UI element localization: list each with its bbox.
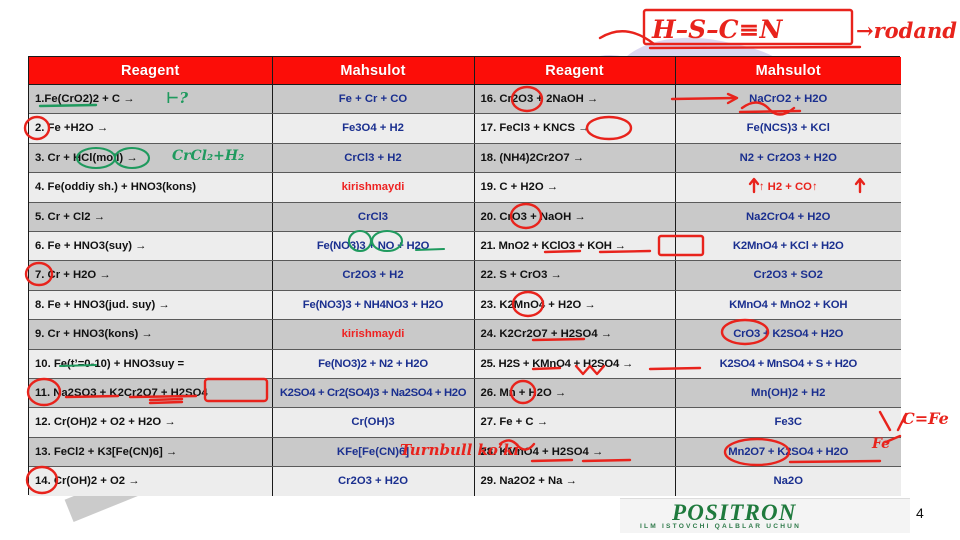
cell-product-left: kirishmaydi [272, 173, 474, 202]
cell-reagent-left: 14. Cr(OH)2 + O2 → [29, 467, 272, 496]
table-row: 6. Fe + HNO3(suy) → Fe(NO3)3 + NO + H2O … [29, 231, 901, 260]
cell-product-right: CrO3 + K2SO4 + H2O [675, 320, 901, 349]
column-header-reagent-left: Reagent [29, 57, 272, 85]
ink-text-rodanid: →rodand [856, 18, 957, 43]
cell-product-right: NaCrO2 + H2O [675, 85, 901, 114]
cell-product-right: Mn2O7 + K2SO4 + H2O [675, 437, 901, 466]
table-row: 14. Cr(OH)2 + O2 → Cr2O3 + H2O 29. Na2O2… [29, 467, 901, 496]
cell-reagent-right: 22. S + CrO3 → [474, 261, 675, 290]
cell-reagent-right: 21. MnO2 + KClO3 + KOH → [474, 231, 675, 260]
cell-product-left: CrCl3 [272, 202, 474, 231]
cell-product-right: Fe3C [675, 408, 901, 437]
cell-product-left: KFe[Fe(CN)6] [272, 437, 474, 466]
table-row: 7. Cr + H2O → Cr2O3 + H2 22. S + CrO3 → … [29, 261, 901, 290]
cell-reagent-left: 13. FeCl2 + K3[Fe(CN)6] → [29, 437, 272, 466]
ink-underline-top [650, 47, 860, 48]
cell-reagent-right: 29. Na2O2 + Na → [474, 467, 675, 496]
cell-product-right: Na2O [675, 467, 901, 496]
page-number: 4 [916, 505, 924, 521]
table-row: 5. Cr + Cl2 → CrCl3 20. CrO3 + NaOH → Na… [29, 202, 901, 231]
cell-product-right: N2 + Cr2O3 + H2O [675, 143, 901, 172]
cell-product-right: Mn(OH)2 + H2 [675, 378, 901, 407]
cell-product-left: Fe(NO3)2 + N2 + H2O [272, 349, 474, 378]
cell-reagent-right: 25. H2S + KMnO4 + H2SO4 → [474, 349, 675, 378]
cell-reagent-left: 9. Cr + HNO3(kons) → [29, 320, 272, 349]
cell-reagent-left: 8. Fe + HNO3(jud. suy) → [29, 290, 272, 319]
cell-product-right: Na2CrO4 + H2O [675, 202, 901, 231]
table-row: 8. Fe + HNO3(jud. suy) → Fe(NO3)3 + NH4N… [29, 290, 901, 319]
ink-curve-top-left [600, 31, 654, 44]
ink-text-thiocyanate: H–S–C≡N [651, 15, 784, 44]
cell-reagent-right: 27. Fe + C → [474, 408, 675, 437]
table-row: 4. Fe(oddiy sh.) + HNO3(kons) kirishmayd… [29, 173, 901, 202]
cell-reagent-left: 11. Na2SO3 + K2Cr2O7 + H2SO4 [29, 378, 272, 407]
reactions-table: Reagent Mahsulot Reagent Mahsulot 1.Fe(C… [29, 57, 901, 496]
cell-reagent-left: 1.Fe(CrO2)2 + C → [29, 85, 272, 114]
table-header-row: Reagent Mahsulot Reagent Mahsulot [29, 57, 901, 85]
cell-product-left: Fe + Cr + CO [272, 85, 474, 114]
cell-product-left: Fe3O4 + H2 [272, 114, 474, 143]
cell-reagent-right: 20. CrO3 + NaOH → [474, 202, 675, 231]
table-row: 13. FeCl2 + K3[Fe(CN)6] → KFe[Fe(CN)6] 2… [29, 437, 901, 466]
table-row: 10. Fe(t’=0-10) + HNO3suy = Fe(NO3)2 + N… [29, 349, 901, 378]
cell-reagent-left: 6. Fe + HNO3(suy) → [29, 231, 272, 260]
ink-text-fe3c-c: C=Fe [902, 409, 949, 428]
table-row: 3. Cr + HCl(mo’l) → CrCl3 + H2 18. (NH4)… [29, 143, 901, 172]
cell-reagent-left: 10. Fe(t’=0-10) + HNO3suy = [29, 349, 272, 378]
cell-product-left: kirishmaydi [272, 320, 474, 349]
cell-reagent-left: 4. Fe(oddiy sh.) + HNO3(kons) [29, 173, 272, 202]
table-row: 11. Na2SO3 + K2Cr2O7 + H2SO4 K2SO4 + Cr2… [29, 378, 901, 407]
cell-product-right: K2SO4 + MnSO4 + S + H2O [675, 349, 901, 378]
cell-product-right: Fe(NCS)3 + KCl [675, 114, 901, 143]
column-header-reagent-right: Reagent [474, 57, 675, 85]
cell-reagent-left: 5. Cr + Cl2 → [29, 202, 272, 231]
cell-product-right: ↑ H2 + CO↑ [675, 173, 901, 202]
cell-product-left: Fe(NO3)3 + NH4NO3 + H2O [272, 290, 474, 319]
logo-tagline: ILM ISTOVCHI QALBLAR UCHUN [640, 523, 801, 530]
cell-product-left: Cr2O3 + H2 [272, 261, 474, 290]
cell-reagent-right: 19. C + H2O → [474, 173, 675, 202]
cell-reagent-left: 12. Cr(OH)2 + O2 + H2O → [29, 408, 272, 437]
cell-reagent-left: 3. Cr + HCl(mo’l) → [29, 143, 272, 172]
cell-product-right: K2MnO4 + KCl + H2O [675, 231, 901, 260]
cell-reagent-right: 24. K2Cr2O7 + H2SO4 → [474, 320, 675, 349]
cell-reagent-right: 16. Cr2O3 + 2NaOH → [474, 85, 675, 114]
column-header-mahsulot-right: Mahsulot [675, 57, 901, 85]
cell-product-left: Cr2O3 + H2O [272, 467, 474, 496]
table-row: 2. Fe +H2O → Fe3O4 + H2 17. FeCl3 + KNCS… [29, 114, 901, 143]
table-row: 12. Cr(OH)2 + O2 + H2O → Cr(OH)3 27. Fe … [29, 408, 901, 437]
cell-reagent-right: 26. Mn + H2O → [474, 378, 675, 407]
positron-logo: POSITRON ILM ISTOVCHI QALBLAR UCHUN [620, 498, 910, 533]
cell-reagent-right: 18. (NH4)2Cr2O7 → [474, 143, 675, 172]
cell-product-right: Cr2O3 + SO2 [675, 261, 901, 290]
cell-product-left: CrCl3 + H2 [272, 143, 474, 172]
reactions-table-container: Reagent Mahsulot Reagent Mahsulot 1.Fe(C… [28, 56, 900, 495]
cell-product-right: KMnO4 + MnO2 + KOH [675, 290, 901, 319]
cell-reagent-left: 2. Fe +H2O → [29, 114, 272, 143]
cell-reagent-left: 7. Cr + H2O → [29, 261, 272, 290]
cell-reagent-right: 28. KMnO4 + H2SO4 → [474, 437, 675, 466]
cell-reagent-right: 23. K2MnO4 + H2O → [474, 290, 675, 319]
table-row: 9. Cr + HNO3(kons) → kirishmaydi 24. K2C… [29, 320, 901, 349]
ink-box-thiocyanate [644, 10, 852, 44]
cell-product-left: Cr(OH)3 [272, 408, 474, 437]
cell-product-left: K2SO4 + Cr2(SO4)3 + Na2SO4 + H2O [272, 378, 474, 407]
column-header-mahsulot-left: Mahsulot [272, 57, 474, 85]
cell-product-left: Fe(NO3)3 + NO + H2O [272, 231, 474, 260]
table-row: 1.Fe(CrO2)2 + C → Fe + Cr + CO 16. Cr2O3… [29, 85, 901, 114]
cell-reagent-right: 17. FeCl3 + KNCS → [474, 114, 675, 143]
